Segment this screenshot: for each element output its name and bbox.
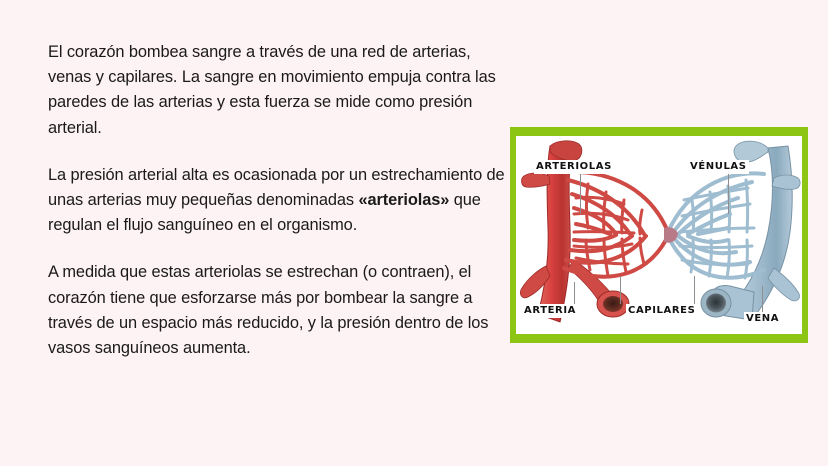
paragraph-1: El corazón bombea sangre a través de una… xyxy=(48,40,518,141)
label-venulas: VÉNULAS xyxy=(688,160,749,174)
leader-line-vena xyxy=(762,286,763,312)
paragraph-3-text: A medida que estas arteriolas se estrech… xyxy=(48,263,488,357)
paragraph-2: La presión arterial alta es ocasionada p… xyxy=(48,163,518,239)
leader-line-arteriolas xyxy=(580,174,581,214)
paragraph-3: A medida que estas arteriolas se estrech… xyxy=(48,260,518,361)
paragraph-1-text: El corazón bombea sangre a través de una… xyxy=(48,43,496,137)
label-capilares: CAPILARES xyxy=(626,304,697,318)
label-arteria: ARTERIA xyxy=(522,304,578,318)
leader-line-capilares-left xyxy=(620,276,621,304)
paragraph-2-emphasis-arteriolas: «arteriolas» xyxy=(358,191,449,209)
blood-vessel-figure: ARTERIOLAS VÉNULAS ARTERIA CAPILARES VEN… xyxy=(510,127,808,343)
artery-cut-end xyxy=(597,291,629,317)
leader-line-venulas xyxy=(728,174,729,214)
label-vena: VENA xyxy=(744,312,781,326)
figure-plate: ARTERIOLAS VÉNULAS ARTERIA CAPILARES VEN… xyxy=(516,136,802,334)
label-arteriolas: ARTERIOLAS xyxy=(534,160,614,174)
leader-line-capilares-right xyxy=(694,276,695,304)
article-text-column: El corazón bombea sangre a través de una… xyxy=(48,40,518,361)
leader-line-arteria xyxy=(574,282,575,304)
